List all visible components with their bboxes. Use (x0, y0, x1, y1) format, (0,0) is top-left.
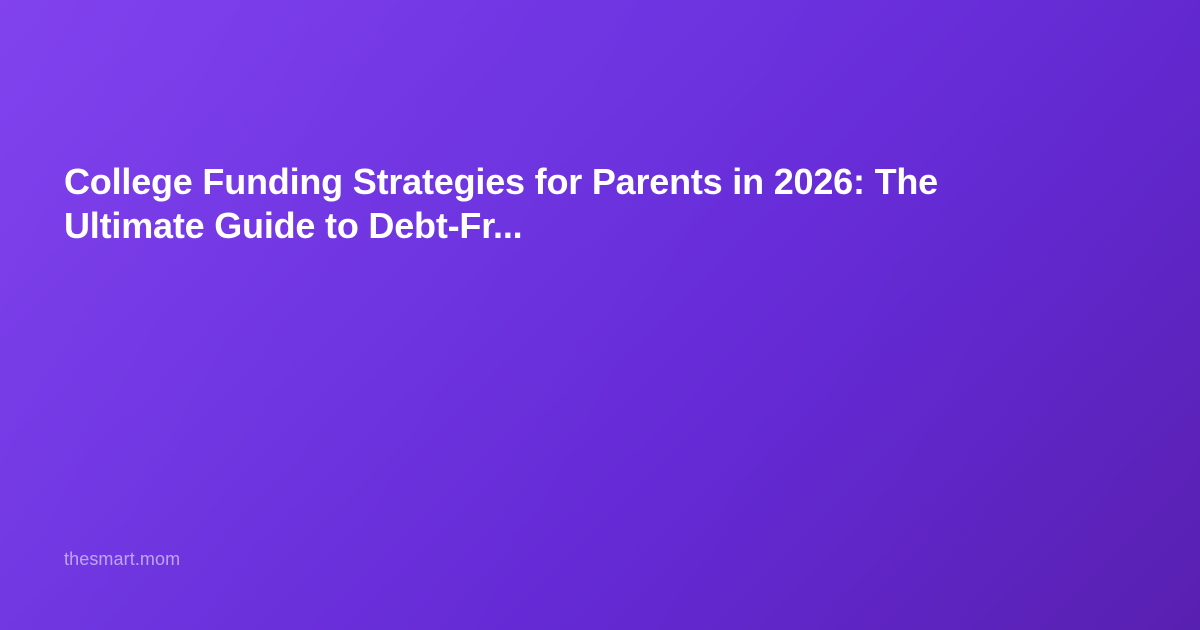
title-block: College Funding Strategies for Parents i… (64, 160, 984, 248)
site-domain-label: thesmart.mom (64, 547, 180, 571)
page-title-continuation: Ultimate Guide to Debt-Fr... (64, 204, 984, 248)
gradient-sheen-overlay (0, 0, 1200, 630)
page-title: College Funding Strategies for Parents i… (64, 160, 984, 204)
social-share-card: College Funding Strategies for Parents i… (0, 0, 1200, 630)
